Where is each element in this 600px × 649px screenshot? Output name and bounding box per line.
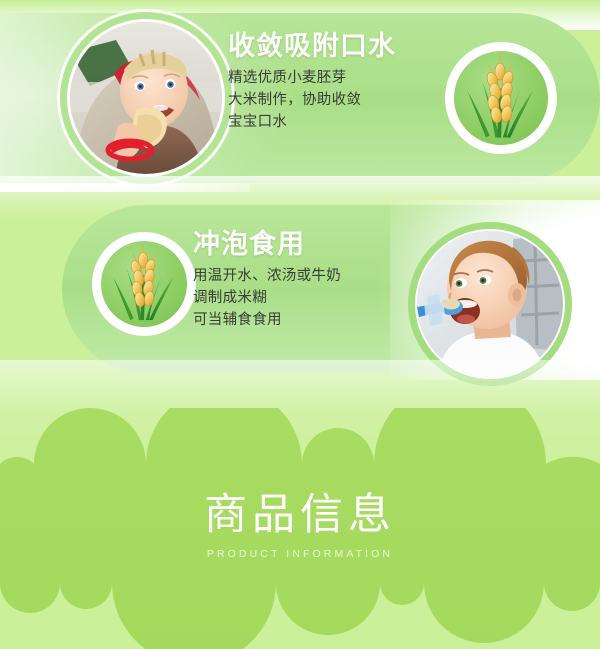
feature-panel-1-body-line-3: 宝宝口水	[228, 111, 396, 133]
wheat-ear-icon-badge-1	[445, 42, 557, 154]
feature-panel-1-copy: 收敛吸附口水 精选优质小麦胚芽 大米制作，协助收敛 宝宝口水	[228, 31, 396, 133]
product-information-title: 商品信息	[0, 494, 600, 537]
feature-panel-2-copy: 冲泡食用 用温开水、浓汤或牛奶 调制成米糊 可当辅食食用	[193, 229, 341, 331]
product-detail-page: 收敛吸附口水 精选优质小麦胚芽 大米制作，协助收敛 宝宝口水	[0, 0, 600, 649]
feature-panel-1-body-line-2: 大米制作，协助收敛	[228, 89, 396, 111]
feature-panel-2-body: 用温开水、浓汤或牛奶 调制成米糊 可当辅食食用	[193, 265, 341, 331]
baby-eating-biscuit-photo	[70, 22, 222, 174]
feature-panel-2-body-line-1: 用温开水、浓汤或牛奶	[193, 265, 341, 287]
feature-panel-2-body-line-3: 可当辅食食用	[193, 309, 341, 331]
feature-panel-2-headline: 冲泡食用	[193, 229, 341, 259]
wheat-ear-icon	[101, 241, 187, 327]
wheat-ear-icon-badge-2	[92, 232, 196, 336]
wheat-ear-icon	[454, 51, 548, 145]
feature-panel-2-body-line-2: 调制成米糊	[193, 287, 341, 309]
feature-panel-1-body: 精选优质小麦胚芽 大米制作，协助收敛 宝宝口水	[228, 67, 396, 133]
baby-being-spoon-fed-photo	[417, 231, 563, 377]
product-information-subtitle: PRODUCT INFORMATION	[0, 548, 600, 560]
feature-panel-1-body-line-1: 精选优质小麦胚芽	[228, 67, 396, 89]
product-information-heading: 商品信息 PRODUCT INFORMATION	[0, 494, 600, 560]
feature-panel-1-headline: 收敛吸附口水	[228, 31, 396, 61]
